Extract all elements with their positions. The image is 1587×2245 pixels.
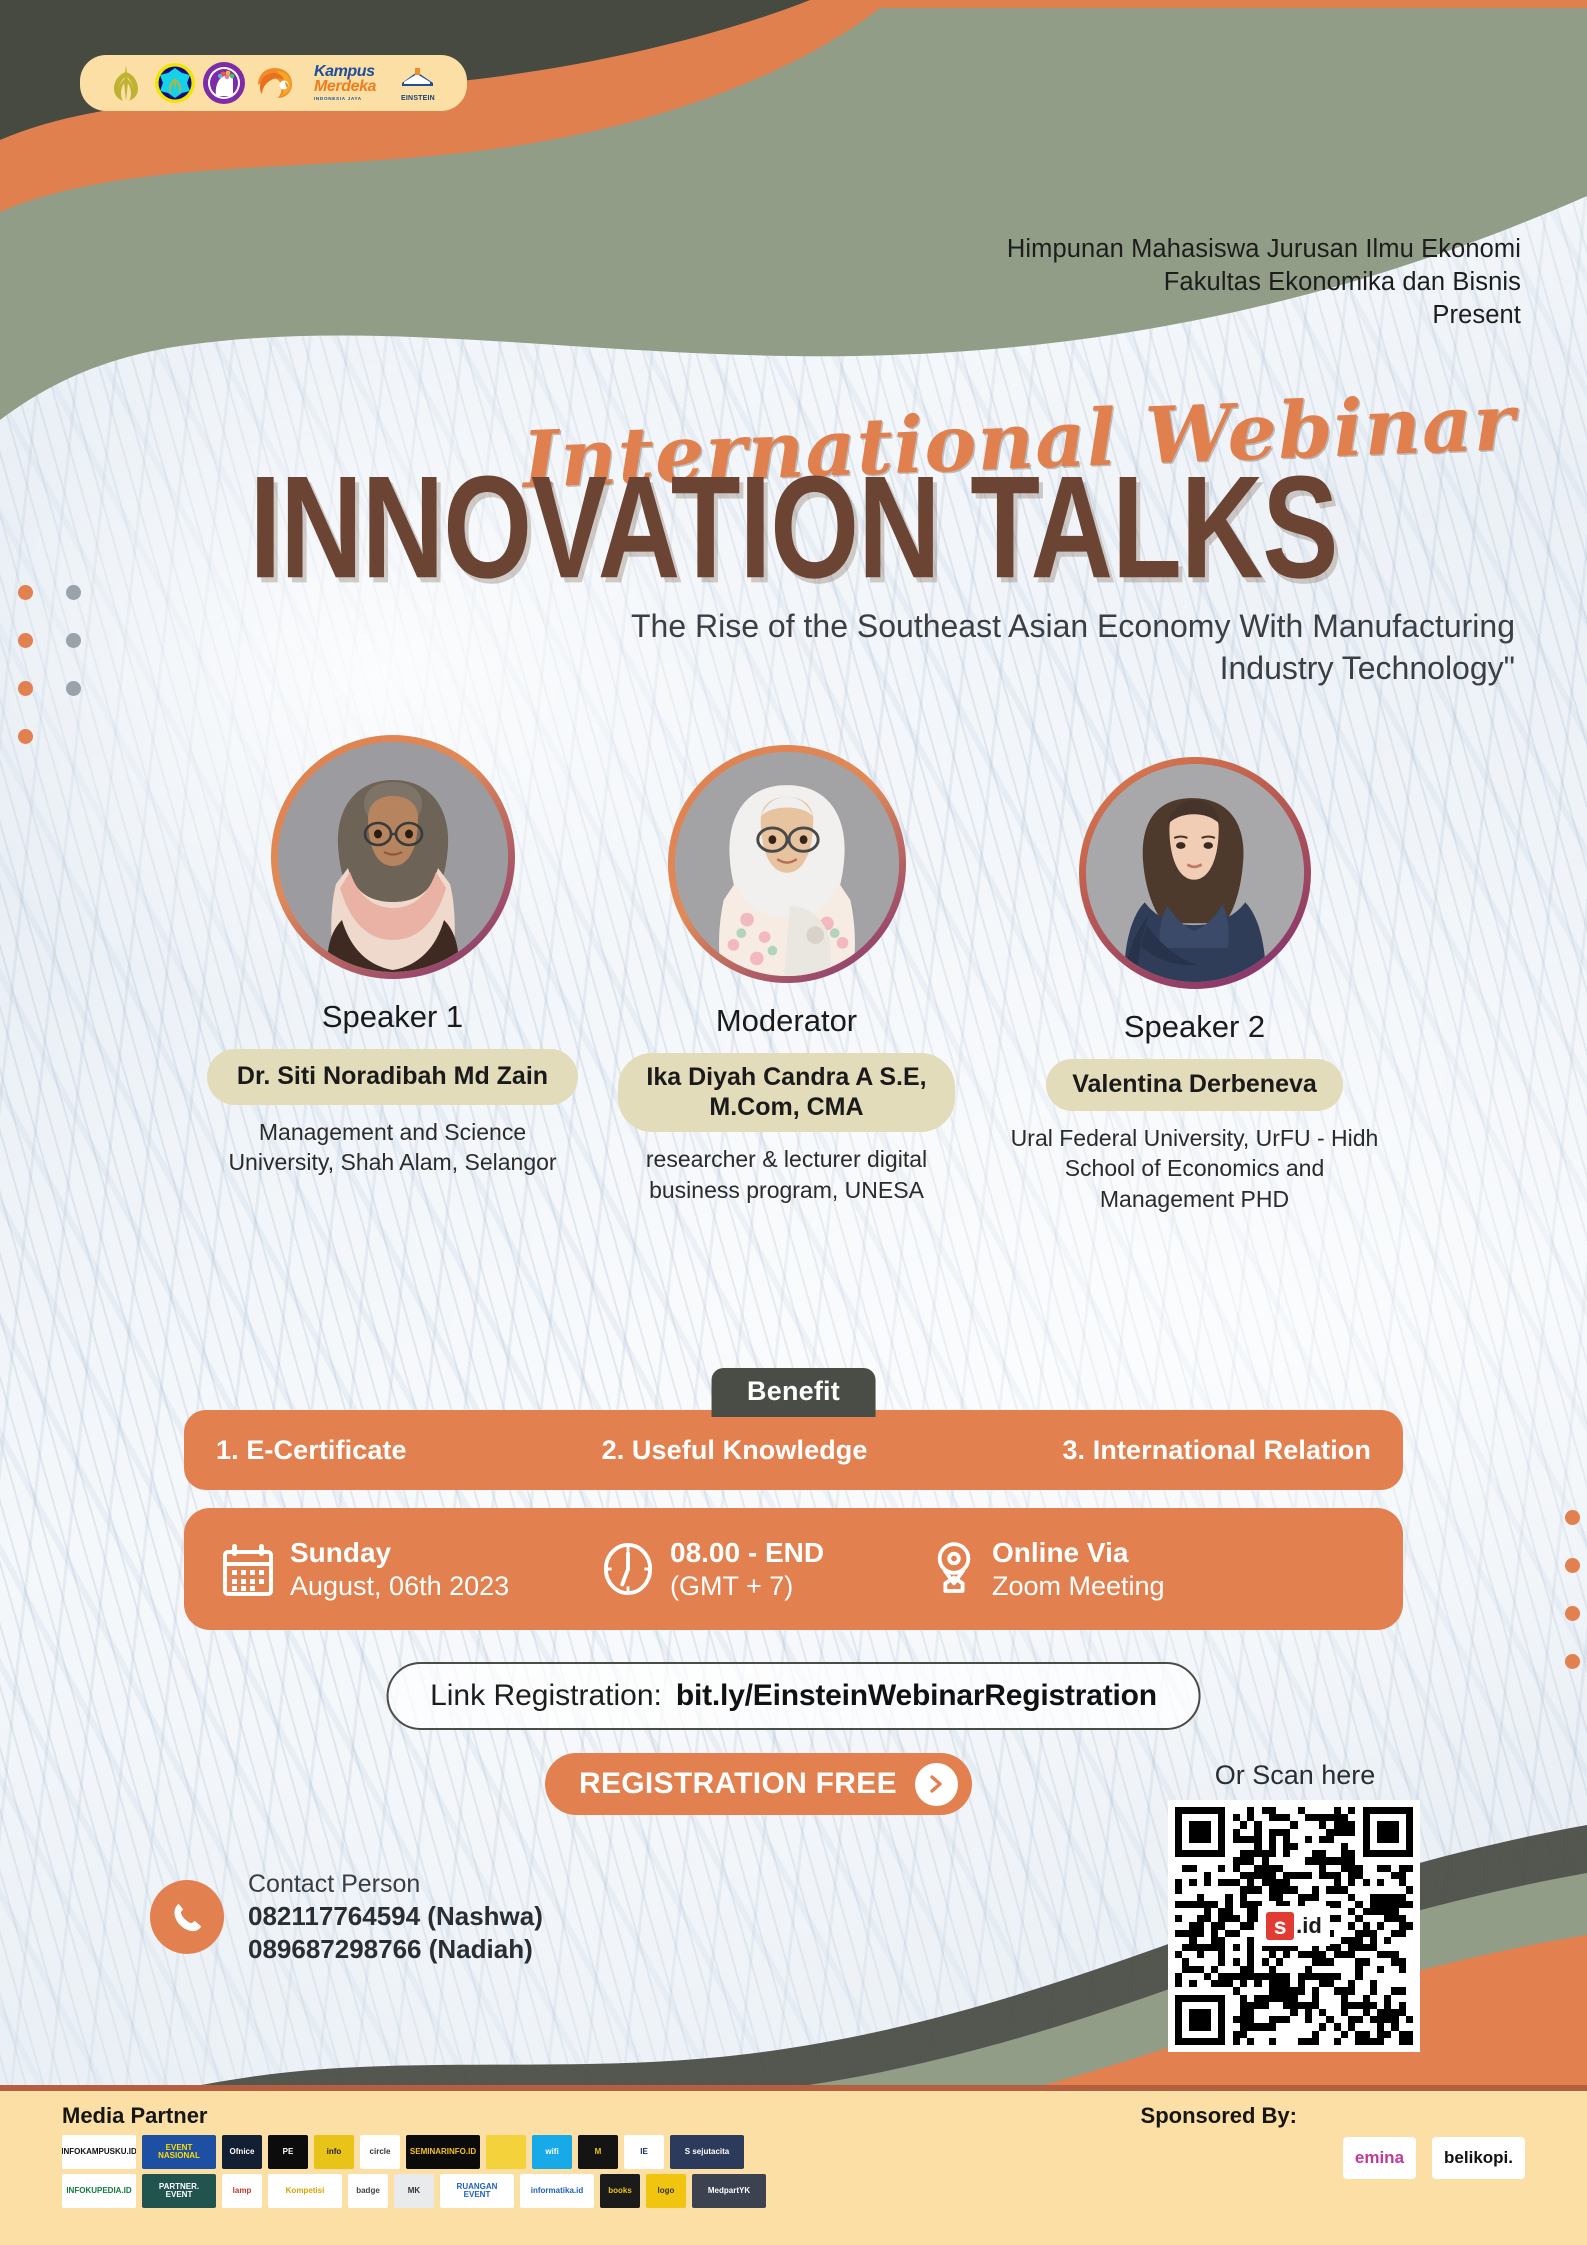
media-partner-logo: PARTNER. EVENT [142, 2174, 216, 2208]
presenter-line-2: Fakultas Ekonomika dan Bisnis [1007, 266, 1521, 299]
lion-logo [252, 63, 296, 103]
media-partner-logo: PE [268, 2135, 308, 2169]
subtitle-line-2: Industry Technology" [330, 647, 1515, 689]
belikopi-logo: belikopi. [1432, 2137, 1525, 2179]
sponsored-by-title: Sponsored By: [1141, 2103, 1297, 2129]
media-partner-logo: INFOKUPEDIA.ID [62, 2174, 136, 2208]
event-time-zone: (GMT + 7) [670, 1570, 824, 1602]
contact-lines: Contact Person 082117764594 (Nashwa) 089… [248, 1868, 543, 1967]
phone-icon [150, 1880, 224, 1954]
speaker-2-affiliation: Ural Federal University, UrFU - Hidh Sch… [980, 1123, 1410, 1215]
moderator-name: Ika Diyah Candra A S.E, M.Com, CMA [618, 1053, 954, 1132]
moderator-avatar-ring [668, 745, 906, 983]
media-partner-logo: informatika.id [520, 2174, 594, 2208]
benefit-badge: Benefit [711, 1368, 876, 1417]
qr-code[interactable]: s .id [1168, 1800, 1420, 2052]
media-partner-logo: Ofnice [222, 2135, 262, 2169]
qr-brand-id: .id [1296, 1913, 1322, 1939]
event-details-bar: Sunday August, 06th 2023 08.00 - END (GM… [184, 1508, 1403, 1630]
calendar-icon [222, 1542, 274, 1596]
event-place-text: Online Via Zoom Meeting [992, 1536, 1165, 1602]
qr-brand-badge: s .id [1258, 1906, 1330, 1946]
media-partner-logo: logo [646, 2174, 686, 2208]
hmj-logo [154, 62, 196, 104]
media-partner-logo: books [600, 2174, 640, 2208]
speaker-1-affiliation-line-1: Management and Science [202, 1117, 584, 1148]
media-partner-logo [486, 2135, 526, 2169]
media-partner-logo: RUANGAN EVENT [440, 2174, 514, 2208]
event-time-range: 08.00 - END [670, 1536, 824, 1570]
media-partner-row-1: INFOKAMPUSKU.IDEVENT NASIONALOfnicePEinf… [62, 2135, 766, 2169]
kampus-merdeka-logo: Kampus Merdeka INDONESIA JAYA [303, 63, 387, 103]
location-pin-icon [932, 1541, 976, 1597]
event-time-item: 08.00 - END (GMT + 7) [602, 1536, 932, 1602]
kampus-merdeka-line3: INDONESIA JAYA [314, 96, 376, 101]
media-partner-logo: circle [360, 2135, 400, 2169]
contact-number-2: 089687298766 (Nadiah) [248, 1933, 543, 1966]
speaker-2-affiliation-line-2: School of Economics and [1004, 1153, 1386, 1184]
moderator-affiliation: researcher & lecturer digital business p… [572, 1144, 1002, 1205]
moderator-affiliation-line-1: researcher & lecturer digital [596, 1144, 978, 1175]
event-place-item: Online Via Zoom Meeting [932, 1536, 1165, 1602]
purple-circle-logo [203, 62, 245, 104]
media-partner-title: Media Partner [62, 2103, 208, 2129]
einstein-label: EINSTEIN [398, 95, 438, 102]
speaker-2-affiliation-line-1: Ural Federal University, UrFU - Hidh [1004, 1123, 1386, 1154]
benefit-item-1: 1. E-Certificate [216, 1435, 407, 1466]
einstein-logo: EINSTEIN [394, 62, 442, 104]
emina-logo: emina [1343, 2137, 1416, 2179]
contact-title: Contact Person [248, 1868, 543, 1900]
unesa-logo [105, 62, 147, 104]
event-date-full: August, 06th 2023 [290, 1570, 509, 1602]
media-partner-logo: info [314, 2135, 354, 2169]
media-partner-logos: INFOKAMPUSKU.IDEVENT NASIONALOfnicePEinf… [62, 2135, 766, 2213]
presenter-block: Himpunan Mahasiswa Jurusan Ilmu Ekonomi … [1007, 233, 1521, 332]
subtitle: The Rise of the Southeast Asian Economy … [330, 605, 1515, 689]
contact-number-1: 082117764594 (Nashwa) [248, 1900, 543, 1933]
registration-free-label: REGISTRATION FREE [579, 1767, 897, 1801]
logo-bar: Kampus Merdeka INDONESIA JAYA EINSTEIN [80, 55, 467, 111]
media-partner-logo: SEMINARINFO.ID [406, 2135, 480, 2169]
media-partner-logo: badge [348, 2174, 388, 2208]
footer: Media Partner Sponsored By: INFOKAMPUSKU… [0, 2085, 1587, 2245]
registration-link-url[interactable]: bit.ly/EinsteinWebinarRegistration [676, 1679, 1157, 1713]
registration-link-label: Link Registration: [430, 1679, 662, 1713]
benefit-bar: 1. E-Certificate 2. Useful Knowledge 3. … [184, 1410, 1403, 1490]
media-partner-logo: S sejutacita [670, 2135, 744, 2169]
speaker-1-affiliation-line-2: University, Shah Alam, Selangor [202, 1147, 584, 1178]
qr-brand-s: s [1266, 1912, 1294, 1940]
presenter-line-3: Present [1007, 299, 1521, 332]
media-partner-row-2: INFOKUPEDIA.IDPARTNER. EVENTlampKompetis… [62, 2174, 766, 2208]
speaker-2-avatar-ring [1079, 757, 1311, 989]
moderator-card: Moderator Ika Diyah Candra A S.E, M.Com,… [572, 745, 1002, 1205]
event-place-sub: Zoom Meeting [992, 1570, 1165, 1602]
media-partner-logo: INFOKAMPUSKU.ID [62, 2135, 136, 2169]
qr-canvas: s .id [1175, 1807, 1413, 2045]
media-partner-logo: wifi [532, 2135, 572, 2169]
speaker-2-name: Valentina Derbeneva [1046, 1059, 1343, 1111]
speakers-row: Speaker 1 Dr. Siti Noradibah Md Zain Man… [0, 735, 1587, 1214]
speaker-1-avatar-ring [271, 735, 515, 979]
benefit-item-3: 3. International Relation [1062, 1435, 1371, 1466]
media-partner-logo: MedpartYK [692, 2174, 766, 2208]
speaker-1-affiliation: Management and Science University, Shah … [178, 1117, 608, 1178]
speaker-2-role: Speaker 2 [980, 1009, 1410, 1045]
event-date-item: Sunday August, 06th 2023 [222, 1536, 602, 1602]
speaker-1-name: Dr. Siti Noradibah Md Zain [207, 1049, 578, 1105]
kampus-merdeka-line2: Merdeka [314, 80, 376, 95]
moderator-role: Moderator [572, 1003, 1002, 1039]
event-date-text: Sunday August, 06th 2023 [290, 1536, 509, 1602]
speaker-1-card: Speaker 1 Dr. Siti Noradibah Md Zain Man… [178, 735, 608, 1178]
media-partner-logo: lamp [222, 2174, 262, 2208]
media-partner-logo: MK [394, 2174, 434, 2208]
presenter-line-1: Himpunan Mahasiswa Jurusan Ilmu Ekonomi [1007, 233, 1521, 266]
speaker-2-affiliation-line-3: Management PHD [1004, 1184, 1386, 1215]
clock-icon [602, 1543, 654, 1595]
sponsor-logos: emina belikopi. [1343, 2137, 1525, 2179]
speaker-2-photo [1086, 764, 1304, 982]
benefit-item-2: 2. Useful Knowledge [602, 1435, 868, 1466]
event-time-text: 08.00 - END (GMT + 7) [670, 1536, 824, 1602]
media-partner-logo: EVENT NASIONAL [142, 2135, 216, 2169]
contact-block: Contact Person 082117764594 (Nashwa) 089… [150, 1868, 543, 1967]
footer-divider [0, 2085, 1587, 2091]
media-partner-logo: Kompetisi [268, 2174, 342, 2208]
moderator-photo [675, 752, 899, 976]
qr-caption: Or Scan here [1170, 1760, 1420, 1791]
speaker-1-photo [278, 742, 508, 972]
webinar-poster: Kampus Merdeka INDONESIA JAYA EINSTEIN H… [0, 0, 1587, 2245]
moderator-affiliation-line-2: business program, UNESA [596, 1175, 978, 1206]
arrow-right-icon [915, 1763, 958, 1806]
subtitle-line-1: The Rise of the Southeast Asian Economy … [330, 605, 1515, 647]
media-partner-logo: M [578, 2135, 618, 2169]
registration-link-box[interactable]: Link Registration: bit.ly/EinsteinWebina… [386, 1662, 1201, 1730]
registration-free-button[interactable]: REGISTRATION FREE [545, 1753, 972, 1815]
speaker-2-card: Speaker 2 Valentina Derbeneva Ural Feder… [980, 757, 1410, 1214]
page-title: INNOVATION TALKS [0, 455, 1587, 601]
media-partner-logo: IE [624, 2135, 664, 2169]
event-place-title: Online Via [992, 1536, 1165, 1570]
speaker-1-role: Speaker 1 [178, 999, 608, 1035]
event-date-day: Sunday [290, 1536, 509, 1570]
